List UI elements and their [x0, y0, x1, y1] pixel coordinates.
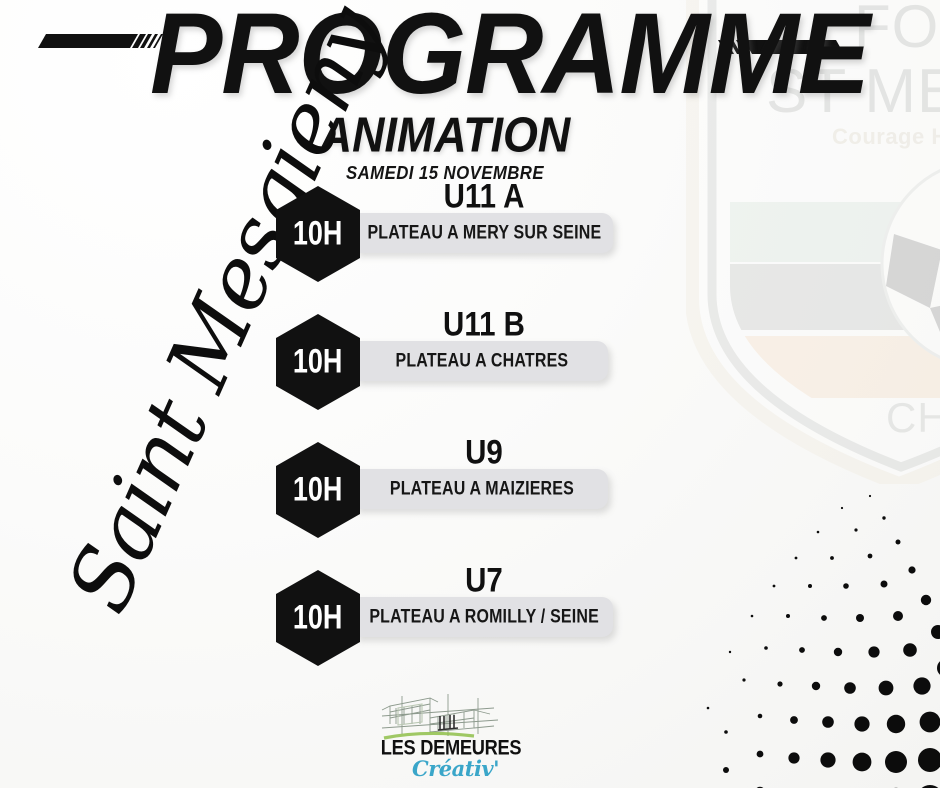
time-badge: 10H [276, 186, 360, 282]
poster-canvas: FO ST ME Courage Hon CH [0, 0, 940, 788]
location-bar: PLATEAU A MERY SUR SEINE [355, 213, 613, 253]
schedule-row: U11 A PLATEAU A MERY SUR SEINE 10H [276, 170, 676, 298]
location-bar: PLATEAU A MAIZIERES [355, 469, 608, 509]
time-label: 10H [293, 599, 342, 638]
schedule-list: U11 A PLATEAU A MERY SUR SEINE 10H U11 B… [276, 170, 676, 682]
team-category: U7 [361, 560, 606, 598]
location-text: PLATEAU A MAIZIERES [389, 478, 573, 501]
location-bar: PLATEAU A ROMILLY / SEINE [355, 597, 613, 637]
time-badge: 10H [276, 314, 360, 410]
sponsor-tagline: Créativ' [412, 756, 532, 781]
schedule-row: U7 PLATEAU A ROMILLY / SEINE 10H [276, 554, 676, 682]
location-text: PLATEAU A CHATRES [395, 350, 568, 373]
halftone-dots-decoration [700, 470, 940, 788]
speed-bar-left-decoration [34, 28, 166, 54]
team-category: U11 B [361, 304, 606, 342]
schedule-row: U11 B PLATEAU A CHATRES 10H [276, 298, 676, 426]
location-text: PLATEAU A MERY SUR SEINE [367, 222, 601, 245]
sponsor-logo: LES DEMEURES Créativ' [378, 694, 518, 780]
location-text: PLATEAU A ROMILLY / SEINE [369, 606, 599, 629]
house-sketch-icon [378, 694, 518, 742]
time-badge: 10H [276, 442, 360, 538]
page-title: PROGRAMME [150, 4, 740, 105]
time-label: 10H [293, 343, 342, 382]
time-label: 10H [293, 471, 342, 510]
team-category: U11 A [361, 176, 606, 214]
team-category: U9 [361, 432, 606, 470]
schedule-row: U9 PLATEAU A MAIZIERES 10H [276, 426, 676, 554]
location-bar: PLATEAU A CHATRES [355, 341, 608, 381]
time-label: 10H [293, 215, 342, 254]
time-badge: 10H [276, 570, 360, 666]
